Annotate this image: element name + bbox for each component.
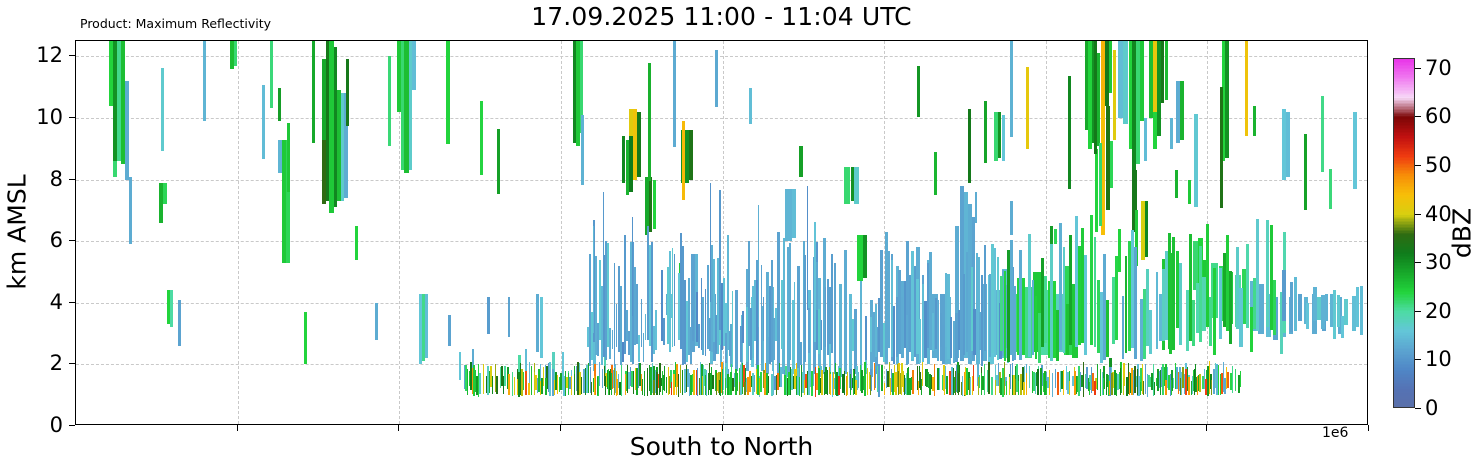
reflectivity-column bbox=[663, 41, 665, 425]
reflectivity-segment bbox=[1341, 316, 1344, 339]
reflectivity-column bbox=[1356, 41, 1359, 425]
reflectivity-column bbox=[355, 41, 358, 425]
reflectivity-column bbox=[673, 41, 676, 425]
reflectivity-column bbox=[1256, 41, 1259, 425]
reflectivity-segment bbox=[648, 63, 651, 181]
product-label: Product: Maximum Reflectivity bbox=[80, 16, 271, 31]
reflectivity-column bbox=[655, 41, 657, 425]
colorbar-tick-mark bbox=[1415, 262, 1421, 263]
reflectivity-column bbox=[1329, 41, 1332, 425]
reflectivity-segment bbox=[710, 183, 711, 303]
reflectivity-column bbox=[1084, 41, 1087, 425]
reflectivity-column bbox=[1110, 41, 1113, 425]
reflectivity-segment bbox=[855, 380, 856, 396]
reflectivity-column bbox=[917, 41, 920, 425]
reflectivity-column bbox=[170, 41, 173, 425]
reflectivity-segment bbox=[865, 316, 867, 360]
reflectivity-segment bbox=[1337, 295, 1340, 328]
reflectivity-column bbox=[270, 41, 273, 425]
reflectivity-column bbox=[520, 41, 521, 425]
reflectivity-segment bbox=[719, 190, 720, 330]
reflectivity-segment bbox=[203, 41, 206, 121]
y-axis-label-wrap: km AMSL bbox=[22, 0, 23, 470]
colorbar-tick-mark bbox=[1415, 214, 1421, 215]
reflectivity-column bbox=[838, 41, 839, 425]
y-tick-label: 2 bbox=[50, 351, 63, 375]
reflectivity-segment bbox=[375, 303, 378, 340]
reflectivity-column bbox=[1321, 41, 1324, 425]
reflectivity-segment bbox=[1304, 134, 1307, 210]
reflectivity-segment bbox=[1068, 76, 1071, 189]
reflectivity-column bbox=[492, 41, 493, 425]
reflectivity-segment bbox=[838, 376, 839, 395]
reflectivity-segment bbox=[852, 319, 854, 351]
reflectivity-column bbox=[1341, 41, 1344, 425]
reflectivity-segment bbox=[1356, 287, 1359, 327]
reflectivity-segment bbox=[673, 41, 676, 147]
reflectivity-segment bbox=[571, 376, 572, 395]
reflectivity-segment bbox=[1050, 244, 1053, 361]
reflectivity-column bbox=[934, 41, 937, 425]
reflectivity-segment bbox=[1010, 41, 1013, 137]
reflectivity-column bbox=[549, 41, 550, 425]
reflectivity-segment bbox=[1106, 300, 1109, 356]
reflectivity-column bbox=[480, 41, 483, 425]
reflectivity-column bbox=[129, 41, 132, 425]
reflectivity-segment bbox=[768, 272, 769, 337]
reflectivity-segment bbox=[1298, 294, 1302, 322]
reflectivity-segment bbox=[1013, 286, 1016, 360]
colorbar-tick-label: 0 bbox=[1425, 396, 1438, 420]
reflectivity-column bbox=[525, 41, 526, 425]
reflectivity-segment bbox=[504, 366, 505, 386]
x-tick-mark bbox=[398, 425, 399, 431]
reflectivity-segment bbox=[525, 371, 526, 395]
reflectivity-segment bbox=[984, 101, 987, 163]
colorbar-tick-label: 10 bbox=[1425, 347, 1452, 371]
reflectivity-segment bbox=[833, 372, 834, 396]
reflectivity-column bbox=[446, 41, 449, 425]
reflectivity-column bbox=[775, 41, 777, 425]
reflectivity-column bbox=[593, 41, 594, 425]
reflectivity-segment bbox=[1313, 287, 1316, 321]
reflectivity-segment bbox=[775, 308, 777, 340]
reflectivity-segment bbox=[1344, 299, 1347, 325]
reflectivity-column bbox=[1313, 41, 1316, 425]
reflectivity-column bbox=[1050, 41, 1053, 425]
plot-area[interactable] bbox=[75, 40, 1368, 425]
reflectivity-segment bbox=[574, 374, 575, 395]
reflectivity-segment bbox=[917, 66, 920, 117]
reflectivity-column bbox=[312, 41, 315, 425]
reflectivity-column bbox=[1337, 41, 1340, 425]
reflectivity-segment bbox=[742, 311, 744, 343]
reflectivity-segment bbox=[508, 374, 509, 395]
reflectivity-column bbox=[534, 41, 535, 425]
reflectivity-segment bbox=[270, 41, 273, 108]
reflectivity-column bbox=[304, 41, 308, 425]
reflectivity-column bbox=[1106, 41, 1109, 425]
reflectivity-segment bbox=[1137, 369, 1138, 395]
reflectivity-column bbox=[865, 41, 867, 425]
reflectivity-column bbox=[545, 41, 546, 425]
reflectivity-column bbox=[1325, 41, 1328, 425]
reflectivity-segment bbox=[1115, 256, 1118, 340]
reflectivity-column bbox=[1194, 41, 1197, 425]
reflectivity-segment bbox=[492, 376, 493, 394]
reflectivity-segment bbox=[968, 109, 971, 184]
reflectivity-column bbox=[1213, 41, 1216, 425]
reflectivity-column bbox=[968, 41, 971, 425]
reflectivity-segment bbox=[1220, 87, 1223, 207]
reflectivity-column bbox=[1137, 41, 1138, 425]
reflectivity-column bbox=[808, 41, 810, 425]
reflectivity-segment bbox=[816, 262, 817, 310]
reflectivity-column bbox=[719, 41, 720, 425]
reflectivity-segment bbox=[764, 373, 765, 396]
reflectivity-segment bbox=[520, 377, 521, 395]
reflectivity-column bbox=[1068, 41, 1071, 425]
reflectivity-segment bbox=[958, 310, 960, 350]
reflectivity-segment bbox=[129, 177, 132, 245]
x-axis-offset-text: 1e6 bbox=[1322, 425, 1348, 441]
reflectivity-segment bbox=[1282, 270, 1285, 320]
reflectivity-column bbox=[375, 41, 378, 425]
reflectivity-segment bbox=[1026, 67, 1029, 150]
reflectivity-segment bbox=[480, 101, 483, 176]
reflectivity-column bbox=[648, 41, 651, 425]
reflectivity-column bbox=[821, 41, 823, 425]
reflectivity-segment bbox=[534, 372, 535, 395]
reflectivity-column bbox=[732, 41, 734, 425]
reflectivity-segment bbox=[844, 371, 845, 395]
reflectivity-segment bbox=[1333, 290, 1336, 339]
reflectivity-segment bbox=[961, 382, 962, 395]
colorbar-tick-mark bbox=[1415, 359, 1421, 360]
reflectivity-column bbox=[278, 41, 281, 425]
reflectivity-column bbox=[1273, 41, 1276, 425]
reflectivity-column bbox=[203, 41, 206, 425]
colorbar-tick-mark bbox=[1415, 68, 1421, 69]
reflectivity-column bbox=[425, 41, 428, 425]
reflectivity-column bbox=[758, 41, 759, 425]
reflectivity-segment bbox=[799, 146, 802, 177]
reflectivity-column bbox=[1360, 41, 1363, 425]
reflectivity-column bbox=[1298, 41, 1302, 425]
reflectivity-segment bbox=[262, 85, 265, 159]
reflectivity-column bbox=[833, 41, 834, 425]
colorbar-tick-mark bbox=[1415, 165, 1421, 166]
reflectivity-segment bbox=[763, 297, 765, 341]
reflectivity-column bbox=[508, 41, 509, 425]
y-tick-label: 10 bbox=[36, 105, 63, 129]
x-tick-mark bbox=[560, 425, 561, 431]
reflectivity-segment bbox=[234, 41, 237, 66]
reflectivity-column bbox=[1115, 41, 1118, 425]
x-axis-label: South to North bbox=[75, 432, 1368, 461]
reflectivity-column bbox=[961, 41, 962, 425]
reflectivity-segment bbox=[549, 362, 550, 395]
reflectivity-column bbox=[1220, 41, 1223, 425]
reflectivity-segment bbox=[531, 366, 532, 396]
reflectivity-column bbox=[603, 41, 604, 425]
reflectivity-column bbox=[682, 41, 685, 425]
reflectivity-column bbox=[1229, 41, 1232, 425]
reflectivity-segment bbox=[804, 255, 806, 361]
reflectivity-segment bbox=[1294, 277, 1297, 330]
colorbar-tick-label: 60 bbox=[1425, 104, 1452, 128]
reflectivity-segment bbox=[1329, 169, 1332, 210]
reflectivity-column bbox=[787, 41, 788, 425]
reflectivity-column bbox=[1026, 41, 1029, 425]
reflectivity-column bbox=[554, 41, 555, 425]
reflectivity-segment bbox=[789, 243, 791, 360]
reflectivity-column bbox=[1290, 41, 1293, 425]
colorbar-band bbox=[1394, 406, 1414, 408]
reflectivity-column bbox=[497, 41, 500, 425]
reflectivity-column bbox=[764, 41, 765, 425]
reflectivity-column bbox=[768, 41, 769, 425]
reflectivity-column bbox=[804, 41, 806, 425]
reflectivity-segment bbox=[1134, 247, 1137, 359]
reflectivity-column bbox=[514, 41, 515, 425]
reflectivity-column bbox=[1010, 41, 1013, 425]
reflectivity-column bbox=[1022, 41, 1025, 425]
reflectivity-segment bbox=[934, 152, 937, 195]
reflectivity-column bbox=[632, 41, 633, 425]
reflectivity-segment bbox=[1325, 294, 1328, 321]
reflectivity-segment bbox=[517, 379, 518, 395]
reflectivity-segment bbox=[278, 88, 281, 121]
colorbar[interactable]: 010203040506070 bbox=[1393, 58, 1415, 408]
reflectivity-column bbox=[161, 41, 164, 425]
colorbar-tick-label: 70 bbox=[1425, 56, 1452, 80]
reflectivity-column bbox=[388, 41, 391, 425]
reflectivity-column bbox=[528, 41, 529, 425]
reflectivity-segment bbox=[1094, 41, 1097, 154]
y-tick-label: 8 bbox=[50, 167, 63, 191]
reflectivity-column bbox=[262, 41, 265, 425]
reflectivity-column bbox=[742, 41, 744, 425]
reflectivity-column bbox=[412, 41, 416, 425]
colorbar-tick-label: 20 bbox=[1425, 299, 1452, 323]
reflectivity-column bbox=[1304, 41, 1307, 425]
reflectivity-segment bbox=[528, 383, 529, 396]
colorbar-tick-label: 50 bbox=[1425, 153, 1452, 177]
reflectivity-segment bbox=[1273, 280, 1276, 336]
reflectivity-segment bbox=[632, 217, 633, 316]
reflectivity-segment bbox=[178, 300, 181, 346]
reflectivity-segment bbox=[593, 226, 594, 333]
reflectivity-column bbox=[1094, 41, 1097, 425]
reflectivity-segment bbox=[1321, 96, 1324, 172]
reflectivity-column bbox=[581, 41, 584, 425]
reflectivity-column bbox=[692, 41, 694, 425]
x-tick-mark bbox=[1368, 425, 1369, 431]
reflectivity-segment bbox=[1213, 268, 1216, 355]
y-tick-label: 6 bbox=[50, 228, 63, 252]
reflectivity-segment bbox=[1022, 289, 1025, 346]
reflectivity-column bbox=[1149, 41, 1152, 425]
reflectivity-segment bbox=[312, 41, 315, 143]
reflectivity-segment bbox=[783, 238, 785, 349]
reflectivity-segment bbox=[1290, 282, 1293, 332]
reflectivity-segment bbox=[170, 290, 173, 327]
reflectivity-column bbox=[831, 41, 833, 425]
reflectivity-segment bbox=[1352, 296, 1355, 332]
reflectivity-segment bbox=[581, 115, 584, 185]
reflectivity-segment bbox=[663, 318, 665, 345]
reflectivity-segment bbox=[1239, 288, 1242, 347]
reflectivity-column bbox=[1044, 41, 1047, 425]
reflectivity-segment bbox=[1044, 276, 1047, 344]
reflectivity-segment bbox=[796, 376, 797, 395]
reflectivity-column bbox=[1179, 41, 1182, 425]
reflectivity-column bbox=[850, 41, 851, 425]
reflectivity-segment bbox=[388, 56, 391, 147]
reflectivity-segment bbox=[161, 68, 164, 152]
reflectivity-column bbox=[287, 41, 290, 425]
reflectivity-segment bbox=[545, 378, 546, 395]
reflectivity-segment bbox=[1256, 219, 1259, 331]
reflectivity-column bbox=[855, 41, 856, 425]
reflectivity-column bbox=[571, 41, 572, 425]
reflectivity-column bbox=[807, 41, 808, 425]
reflectivity-column bbox=[701, 41, 703, 425]
reflectivity-column bbox=[844, 41, 845, 425]
reflectivity-column bbox=[523, 41, 524, 425]
reflectivity-column bbox=[816, 41, 817, 425]
reflectivity-column bbox=[1134, 41, 1137, 425]
reflectivity-segment bbox=[655, 310, 657, 351]
reflectivity-column bbox=[852, 41, 854, 425]
reflectivity-columns bbox=[76, 41, 1367, 424]
reflectivity-segment bbox=[1110, 141, 1113, 188]
reflectivity-segment bbox=[304, 312, 308, 364]
reflectivity-segment bbox=[847, 372, 848, 395]
reflectivity-segment bbox=[568, 373, 569, 395]
reflectivity-segment bbox=[346, 59, 349, 125]
reflectivity-column bbox=[749, 41, 752, 425]
x-tick-mark bbox=[1206, 425, 1207, 431]
reflectivity-segment bbox=[514, 377, 515, 395]
x-tick-mark bbox=[883, 425, 884, 431]
reflectivity-segment bbox=[831, 254, 833, 354]
reflectivity-segment bbox=[1229, 271, 1232, 344]
reflectivity-column bbox=[1239, 41, 1242, 425]
reflectivity-segment bbox=[1194, 114, 1197, 207]
reflectivity-segment bbox=[497, 129, 500, 194]
reflectivity-segment bbox=[749, 88, 752, 124]
reflectivity-column bbox=[568, 41, 569, 425]
reflectivity-segment bbox=[758, 205, 759, 327]
reflectivity-column bbox=[789, 41, 791, 425]
reflectivity-column bbox=[1333, 41, 1336, 425]
reflectivity-segment bbox=[1149, 310, 1152, 354]
reflectivity-column bbox=[847, 41, 848, 425]
reflectivity-segment bbox=[821, 320, 823, 351]
reflectivity-segment bbox=[603, 192, 604, 319]
reflectivity-segment bbox=[459, 352, 462, 380]
reflectivity-column bbox=[796, 41, 797, 425]
reflectivity-column bbox=[1162, 41, 1165, 425]
y-tick-label: 4 bbox=[50, 290, 63, 314]
reflectivity-segment bbox=[523, 372, 524, 390]
reflectivity-column bbox=[1352, 41, 1355, 425]
reflectivity-segment bbox=[794, 282, 796, 340]
reflectivity-segment bbox=[701, 278, 703, 351]
reflectivity-segment bbox=[1360, 286, 1363, 335]
reflectivity-column bbox=[984, 41, 987, 425]
reflectivity-segment bbox=[1084, 255, 1087, 355]
reflectivity-segment bbox=[807, 186, 808, 310]
reflectivity-column bbox=[958, 41, 960, 425]
y-axis-label: km AMSL bbox=[3, 174, 32, 289]
reflectivity-segment bbox=[1179, 263, 1182, 345]
reflectivity-segment bbox=[425, 294, 428, 359]
reflectivity-segment bbox=[692, 310, 694, 341]
reflectivity-segment bbox=[412, 41, 416, 90]
x-tick-mark bbox=[722, 425, 723, 431]
reflectivity-column bbox=[504, 41, 505, 425]
reflectivity-column bbox=[783, 41, 785, 425]
reflectivity-column bbox=[1294, 41, 1297, 425]
reflectivity-column bbox=[346, 41, 349, 425]
reflectivity-column bbox=[715, 41, 718, 425]
reflectivity-column bbox=[178, 41, 181, 425]
reflectivity-column bbox=[710, 41, 711, 425]
reflectivity-column bbox=[1344, 41, 1347, 425]
radar-cross-section-figure: 17.09.2025 11:00 - 11:04 UTC Product: Ma… bbox=[0, 0, 1482, 470]
colorbar-tick-mark bbox=[1415, 116, 1421, 117]
reflectivity-column bbox=[1282, 41, 1285, 425]
reflectivity-column bbox=[763, 41, 765, 425]
reflectivity-segment bbox=[446, 41, 449, 144]
reflectivity-column bbox=[540, 41, 541, 425]
reflectivity-segment bbox=[287, 123, 290, 192]
reflectivity-segment bbox=[732, 291, 734, 364]
reflectivity-segment bbox=[715, 50, 718, 108]
reflectivity-segment bbox=[808, 308, 810, 353]
reflectivity-column bbox=[574, 41, 575, 425]
x-tick-mark bbox=[1045, 425, 1046, 431]
x-tick-mark bbox=[237, 425, 238, 431]
reflectivity-segment bbox=[540, 381, 541, 396]
reflectivity-column bbox=[517, 41, 518, 425]
reflectivity-column bbox=[1013, 41, 1016, 425]
colorbar-tick-mark bbox=[1415, 311, 1421, 312]
reflectivity-segment bbox=[355, 226, 358, 260]
reflectivity-column bbox=[234, 41, 237, 425]
y-tick-label: 12 bbox=[36, 43, 63, 67]
colorbar-gradient bbox=[1393, 58, 1415, 408]
reflectivity-column bbox=[799, 41, 802, 425]
reflectivity-segment bbox=[787, 260, 788, 341]
reflectivity-segment bbox=[1162, 269, 1165, 341]
reflectivity-column bbox=[459, 41, 462, 425]
reflectivity-column bbox=[794, 41, 796, 425]
reflectivity-column bbox=[531, 41, 532, 425]
reflectivity-segment bbox=[554, 380, 555, 395]
reflectivity-segment bbox=[682, 121, 685, 200]
colorbar-label: dBZ bbox=[1448, 208, 1477, 258]
colorbar-tick-mark bbox=[1415, 408, 1421, 409]
reflectivity-segment bbox=[850, 374, 851, 395]
